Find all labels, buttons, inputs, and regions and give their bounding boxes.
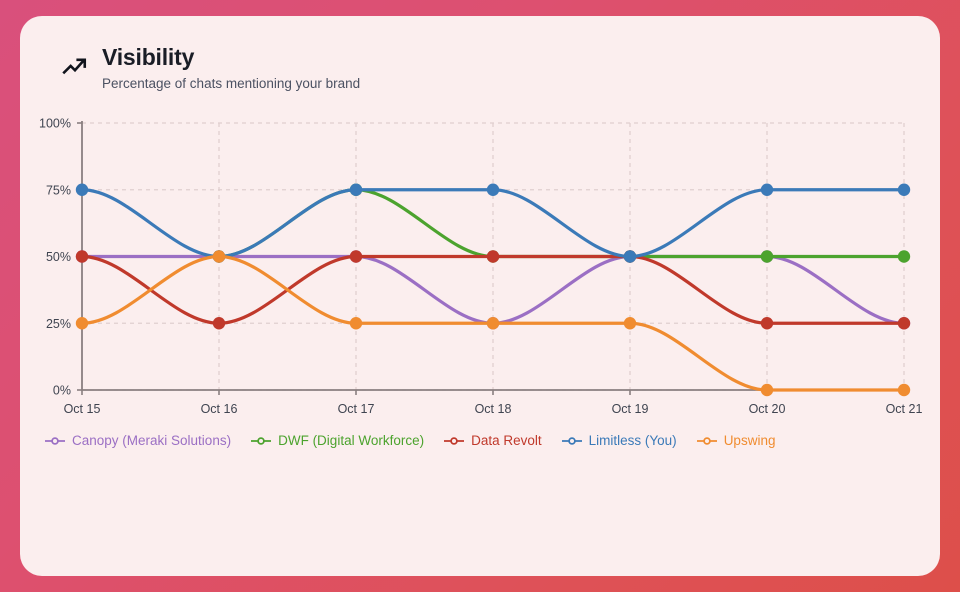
x-tick-label: Oct 15 bbox=[64, 402, 101, 416]
legend-label: Canopy (Meraki Solutions) bbox=[72, 434, 231, 448]
data-point[interactable] bbox=[213, 250, 225, 262]
legend-label: Data Revolt bbox=[471, 434, 542, 448]
x-tick-label: Oct 16 bbox=[201, 402, 238, 416]
legend-label: DWF (Digital Workforce) bbox=[278, 434, 424, 448]
y-tick-label: 100% bbox=[39, 117, 71, 131]
y-tick-label: 75% bbox=[46, 183, 71, 197]
x-tick-label: Oct 18 bbox=[475, 402, 512, 416]
data-point[interactable] bbox=[761, 250, 773, 262]
data-point[interactable] bbox=[898, 184, 910, 196]
data-point[interactable] bbox=[76, 317, 88, 329]
y-tick-label: 25% bbox=[46, 317, 71, 331]
visibility-card: Visibility Percentage of chats mentionin… bbox=[20, 16, 940, 576]
data-point[interactable] bbox=[898, 250, 910, 262]
x-tick-label: Oct 21 bbox=[886, 402, 923, 416]
data-point[interactable] bbox=[624, 317, 636, 329]
y-tick-label: 50% bbox=[46, 250, 71, 264]
data-point[interactable] bbox=[487, 317, 499, 329]
data-point[interactable] bbox=[213, 317, 225, 329]
x-tick-label: Oct 19 bbox=[612, 402, 649, 416]
legend-item[interactable]: Upswing bbox=[696, 434, 776, 448]
legend-marker-icon bbox=[443, 435, 465, 447]
legend-item[interactable]: DWF (Digital Workforce) bbox=[250, 434, 424, 448]
chart-legend: Canopy (Meraki Solutions)DWF (Digital Wo… bbox=[44, 434, 924, 448]
data-point[interactable] bbox=[350, 184, 362, 196]
data-point[interactable] bbox=[350, 250, 362, 262]
legend-label: Limitless (You) bbox=[589, 434, 677, 448]
data-point[interactable] bbox=[761, 384, 773, 396]
data-point[interactable] bbox=[761, 184, 773, 196]
legend-marker-icon bbox=[561, 435, 583, 447]
data-point[interactable] bbox=[487, 184, 499, 196]
data-point[interactable] bbox=[898, 317, 910, 329]
legend-label: Upswing bbox=[724, 434, 776, 448]
data-point[interactable] bbox=[76, 250, 88, 262]
legend-marker-icon bbox=[696, 435, 718, 447]
data-point[interactable] bbox=[487, 250, 499, 262]
legend-item[interactable]: Data Revolt bbox=[443, 434, 542, 448]
line-chart: 0%25%50%75%100% Oct 15Oct 16Oct 17Oct 18… bbox=[20, 16, 940, 576]
data-point[interactable] bbox=[350, 317, 362, 329]
x-axis-ticks: Oct 15Oct 16Oct 17Oct 18Oct 19Oct 20Oct … bbox=[64, 402, 923, 416]
legend-marker-icon bbox=[250, 435, 272, 447]
x-tick-label: Oct 17 bbox=[338, 402, 375, 416]
y-axis-ticks: 0%25%50%75%100% bbox=[39, 117, 71, 398]
legend-marker-icon bbox=[44, 435, 66, 447]
data-point[interactable] bbox=[761, 317, 773, 329]
data-point[interactable] bbox=[624, 250, 636, 262]
y-tick-label: 0% bbox=[53, 384, 71, 398]
x-tick-label: Oct 20 bbox=[749, 402, 786, 416]
data-point[interactable] bbox=[76, 184, 88, 196]
legend-item[interactable]: Canopy (Meraki Solutions) bbox=[44, 434, 231, 448]
data-point[interactable] bbox=[898, 384, 910, 396]
legend-item[interactable]: Limitless (You) bbox=[561, 434, 677, 448]
